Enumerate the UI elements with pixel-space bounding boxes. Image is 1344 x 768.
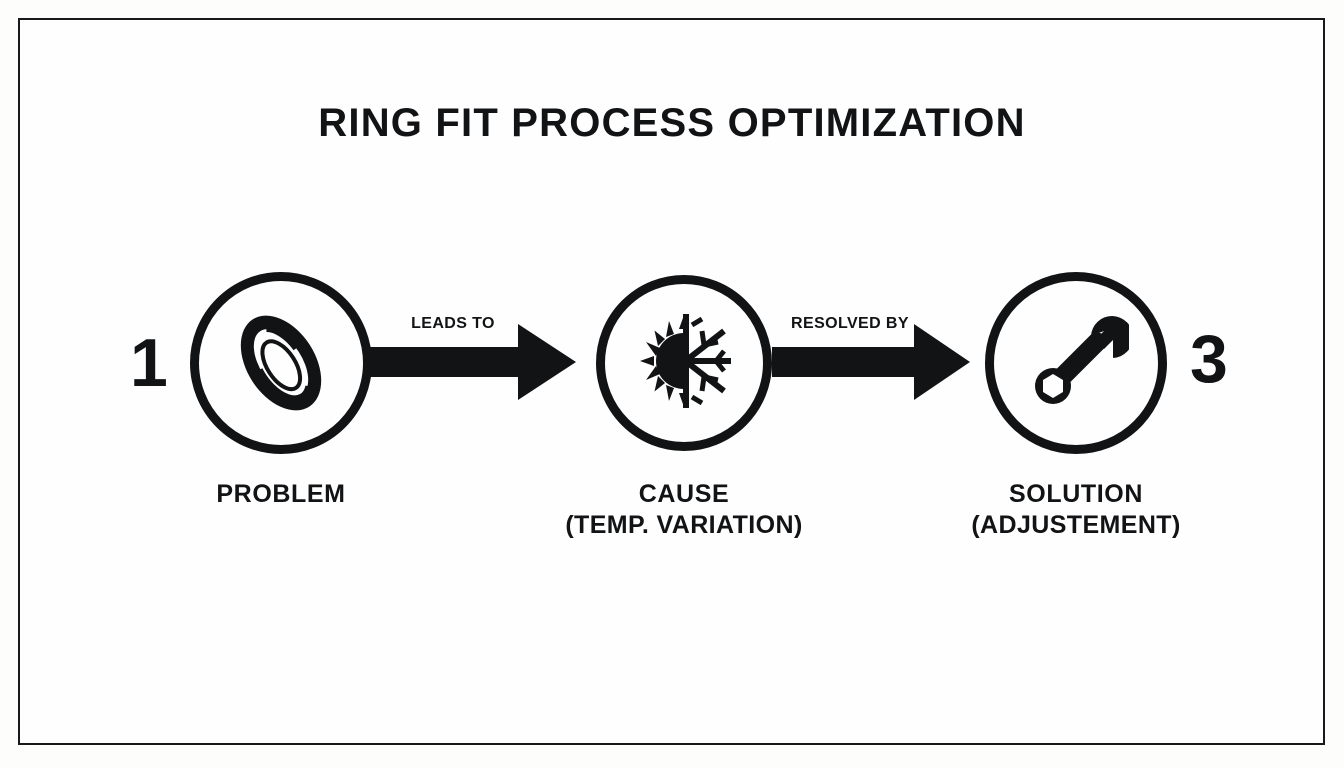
step-node-solution[interactable]: [985, 272, 1167, 454]
step-label-cause-main: CAUSE: [639, 480, 730, 508]
diagram-canvas: RING FIT PROCESS OPTIMIZATION 1 PROBLEM …: [0, 0, 1344, 768]
page-title: RING FIT PROCESS OPTIMIZATION: [0, 101, 1344, 146]
step-label-problem-main: PROBLEM: [216, 480, 345, 508]
arrow-right-icon-2: [772, 324, 970, 400]
ring-torus-icon: [226, 308, 336, 418]
arrow-right-icon-1: [366, 324, 576, 400]
step-label-solution-sub: (ADJUSTEMENT): [866, 510, 1286, 541]
step-node-cause[interactable]: [596, 275, 772, 451]
wrench-icon: [1025, 310, 1129, 414]
step-number-3: 3: [1190, 325, 1228, 393]
step-label-cause: CAUSE (TEMP. VARIATION): [474, 479, 894, 541]
step-node-problem[interactable]: [190, 272, 372, 454]
step-label-cause-sub: (TEMP. VARIATION): [474, 510, 894, 541]
step-number-1: 1: [130, 329, 168, 397]
step-label-solution: SOLUTION (ADJUSTEMENT): [866, 479, 1286, 541]
step-label-problem: PROBLEM: [71, 479, 491, 510]
step-label-solution-main: SOLUTION: [1009, 480, 1143, 508]
